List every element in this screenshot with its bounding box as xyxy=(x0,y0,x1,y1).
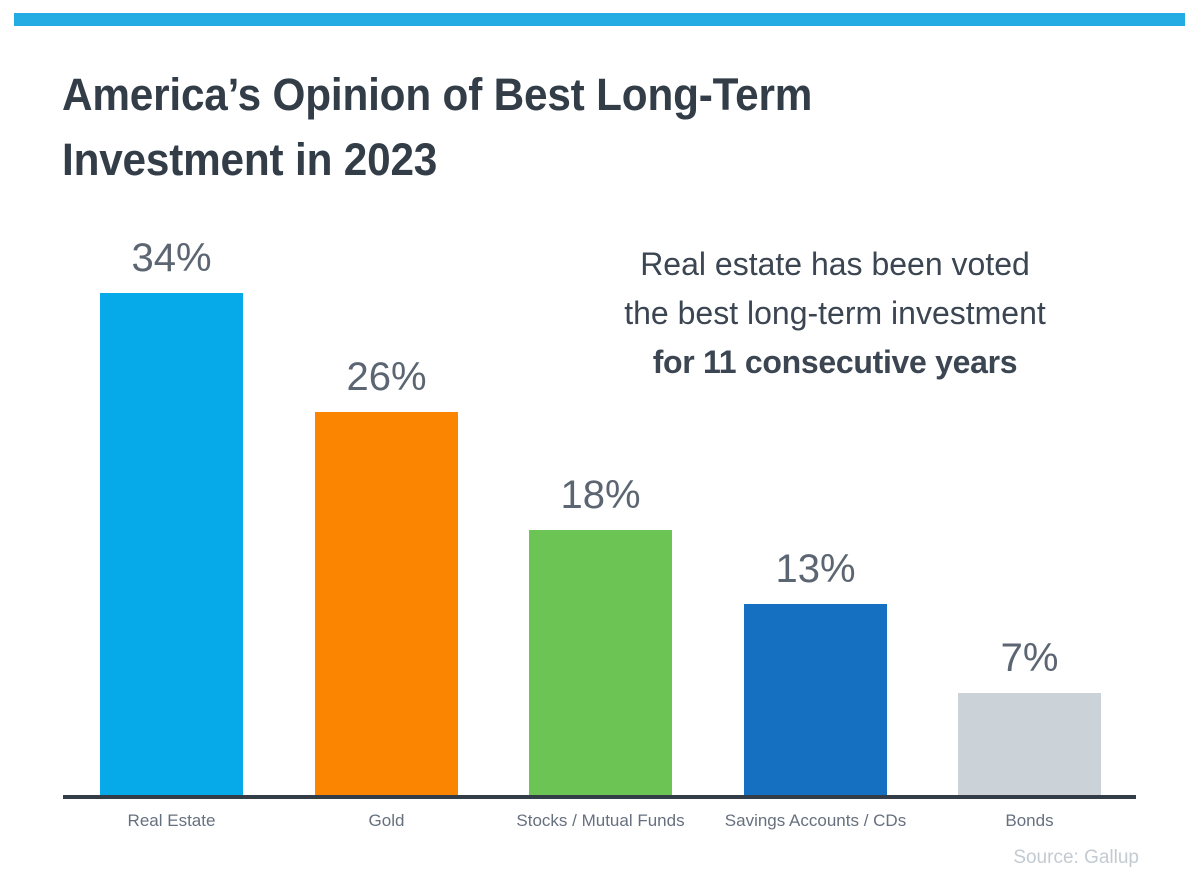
bar-value-label: 7% xyxy=(938,638,1121,678)
bar-1[interactable] xyxy=(315,412,458,797)
chart-baseline-axis xyxy=(63,795,1136,799)
infographic-slide: America’s Opinion of Best Long-Term Inve… xyxy=(0,0,1197,877)
bar-2[interactable] xyxy=(529,530,672,797)
bar-value-label: 18% xyxy=(509,475,692,515)
category-label: Bonds xyxy=(878,810,1181,832)
bar-value-label: 13% xyxy=(724,549,907,589)
bar-value-label: 26% xyxy=(295,357,478,397)
bar-0[interactable] xyxy=(100,293,243,797)
bar-4[interactable] xyxy=(958,693,1101,797)
source-attribution: Source: Gallup xyxy=(1013,847,1139,869)
bar-value-label: 34% xyxy=(80,238,263,278)
bar-chart: 34%Real Estate26%Gold18%Stocks / Mutual … xyxy=(0,0,1197,877)
bar-3[interactable] xyxy=(744,604,887,797)
